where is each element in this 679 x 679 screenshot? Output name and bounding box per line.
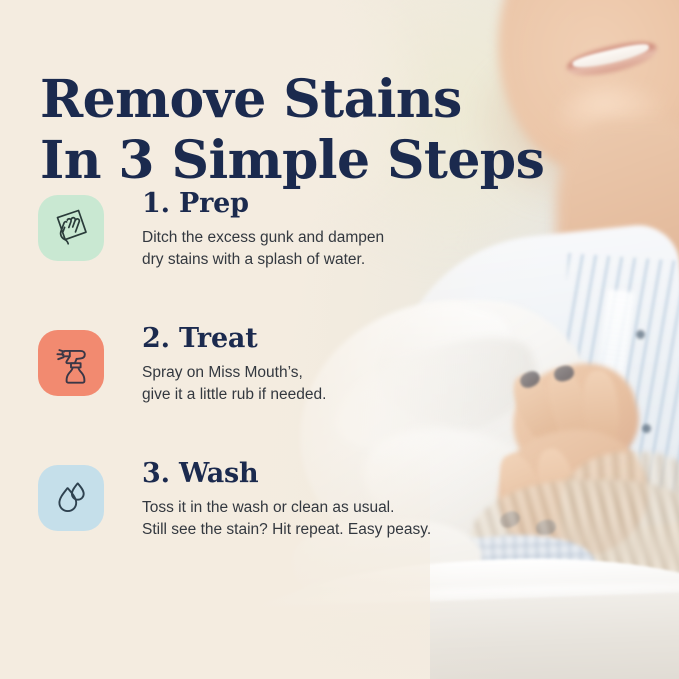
step-body-wash: Toss it in the wash or clean as usual. S… bbox=[142, 497, 508, 541]
hand-wiping-cloth-icon bbox=[48, 205, 94, 251]
page-title: Remove Stains In 3 Simple Steps bbox=[40, 70, 600, 192]
step-title-wash: 3. Wash bbox=[142, 460, 508, 488]
spray-bottle-icon bbox=[47, 339, 95, 387]
step-badge-treat bbox=[38, 330, 104, 396]
poster-content: Remove Stains In 3 Simple Steps bbox=[0, 0, 679, 679]
headline-line-1: Remove Stains bbox=[40, 69, 462, 130]
step-item-treat: 2. Treat Spray on Miss Mouth’s, give it … bbox=[38, 325, 508, 443]
step-title-prep: 1. Prep bbox=[142, 190, 508, 218]
step-badge-prep bbox=[38, 195, 104, 261]
step-body-prep: Ditch the excess gunk and dampen dry sta… bbox=[142, 227, 508, 271]
step-badge-wash bbox=[38, 465, 104, 531]
headline-line-2: In 3 Simple Steps bbox=[40, 131, 600, 192]
steps-list: 1. Prep Ditch the excess gunk and dampen… bbox=[38, 190, 508, 578]
poster-root: Remove Stains In 3 Simple Steps bbox=[0, 0, 679, 679]
step-body-treat: Spray on Miss Mouth’s, give it a little … bbox=[142, 362, 508, 406]
step-title-treat: 2. Treat bbox=[142, 325, 508, 353]
step-item-prep: 1. Prep Ditch the excess gunk and dampen… bbox=[38, 190, 508, 308]
step-item-wash: 3. Wash Toss it in the wash or clean as … bbox=[38, 460, 508, 578]
water-droplets-icon bbox=[50, 477, 92, 519]
